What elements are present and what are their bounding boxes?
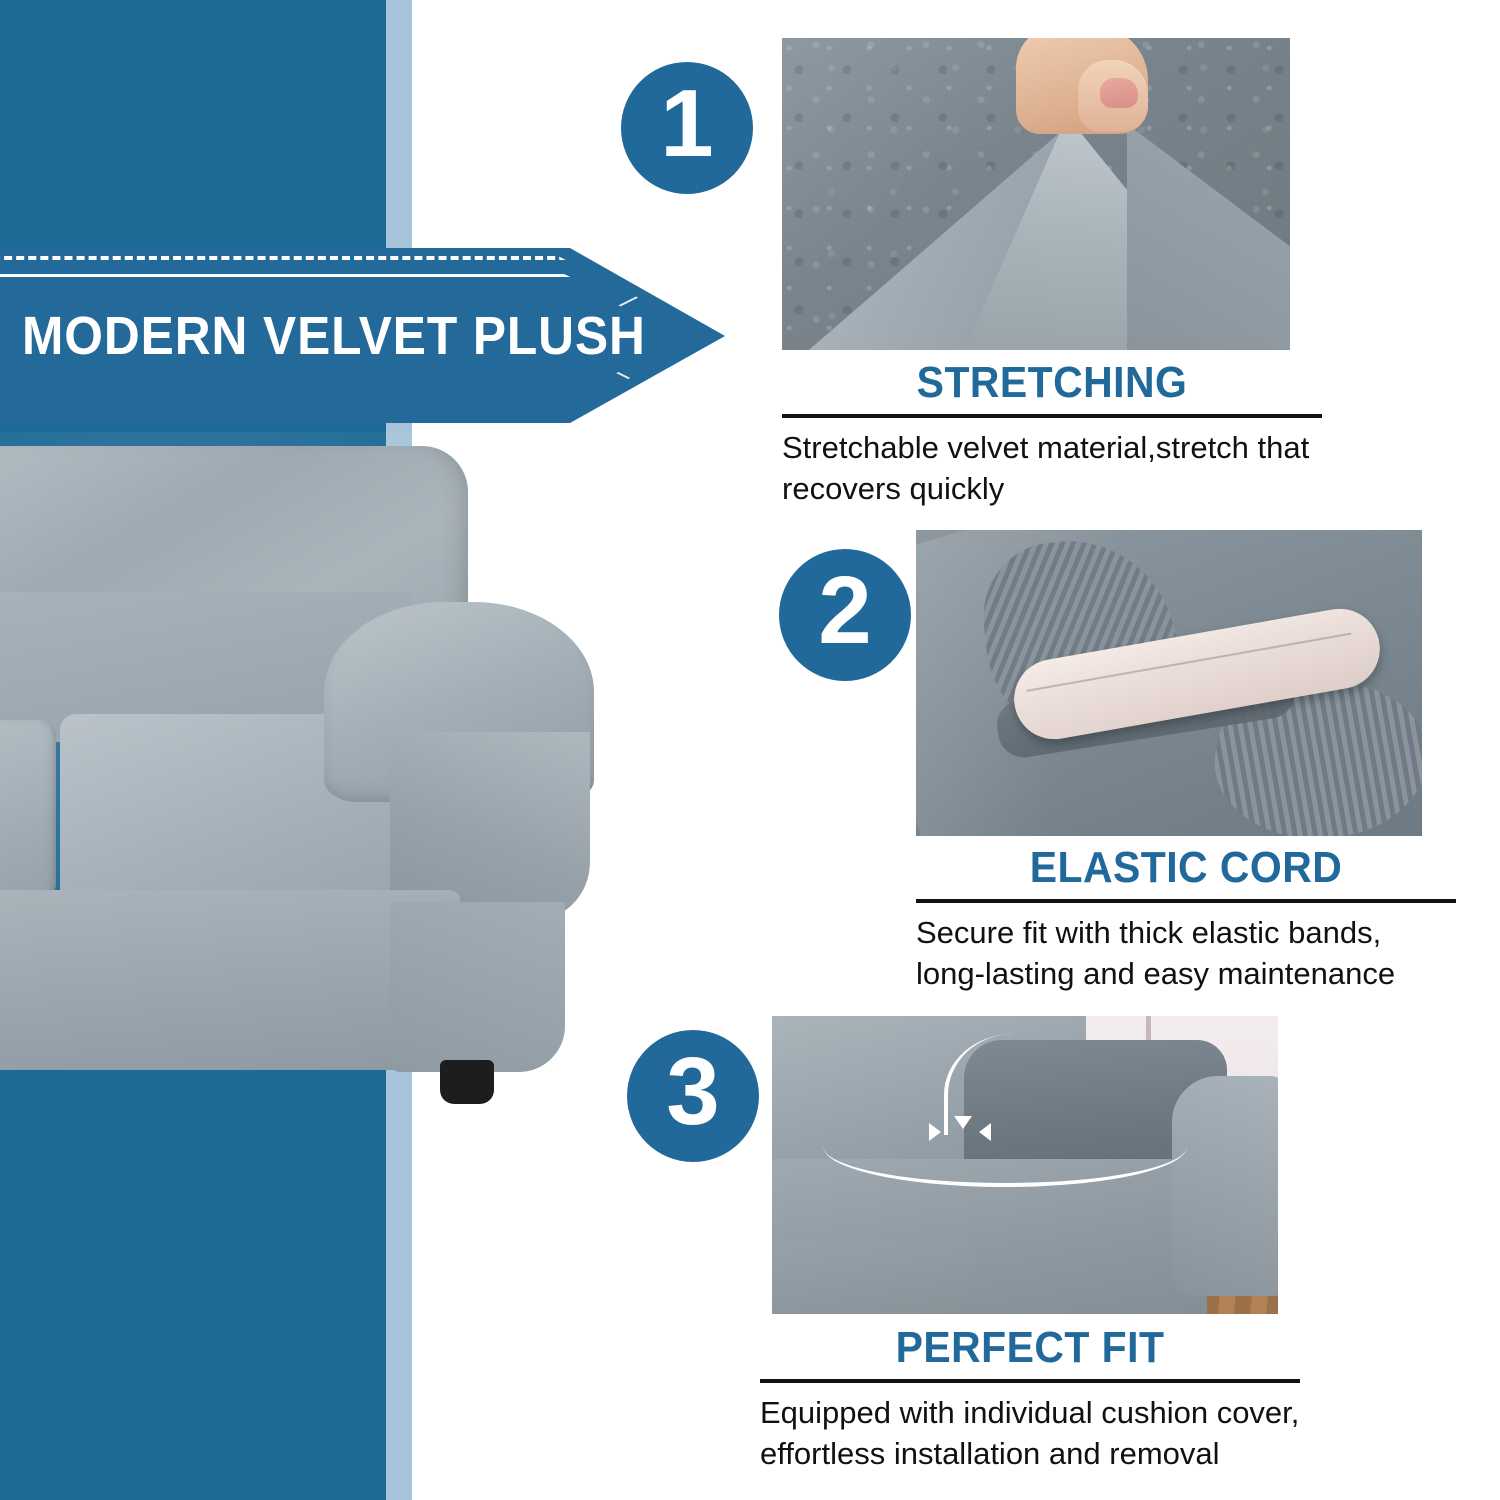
step-heading-2: ELASTIC CORD [935,845,1437,891]
step-photo-2 [916,530,1422,836]
sofa-seat-cushion-second [772,1242,974,1314]
step-caption-1: STRETCHING Stretchable velvet material,s… [782,360,1322,510]
step-number-1: 1 [660,76,713,172]
infographic-canvas: MODERN VELVET PLUSH 1 STRETCHING Stretch… [0,0,1500,1500]
sofa-leg [440,1060,494,1104]
step-number-2: 2 [818,563,871,659]
heading-rule-2 [916,899,1456,903]
banner-title: MODERN VELVET PLUSH [22,296,611,376]
step-number-badge-3: 3 [627,1030,759,1162]
arrow-head-right-icon [979,1123,991,1141]
heading-rule-1 [782,414,1322,418]
arrow-head-left-icon [929,1123,941,1141]
sofa-arm-right [1172,1076,1278,1297]
step-number-badge-1: 1 [621,62,753,194]
sofa-seat-cushion-left [0,720,56,898]
heading-rule-3 [760,1379,1300,1383]
sofa-base-right [390,902,565,1072]
step-body-3: Equipped with individual cushion cover, … [760,1393,1300,1475]
step-heading-1: STRETCHING [801,360,1303,406]
step-body-1: Stretchable velvet material,stretch that… [782,428,1322,510]
arrow-head-down-icon [954,1116,972,1129]
step-body-2: Secure fit with thick elastic bands, lon… [916,913,1456,995]
step-heading-3: PERFECT FIT [779,1325,1281,1371]
step-number-badge-2: 2 [779,549,911,681]
step-caption-2: ELASTIC CORD Secure fit with thick elast… [916,845,1456,995]
step-photo-1 [782,38,1290,350]
fingernail-shape [1100,78,1138,108]
step-photo-3 [772,1016,1278,1314]
step-caption-3: PERFECT FIT Equipped with individual cus… [760,1325,1300,1475]
hero-sofa-image [0,432,620,1112]
step-number-3: 3 [666,1044,719,1140]
